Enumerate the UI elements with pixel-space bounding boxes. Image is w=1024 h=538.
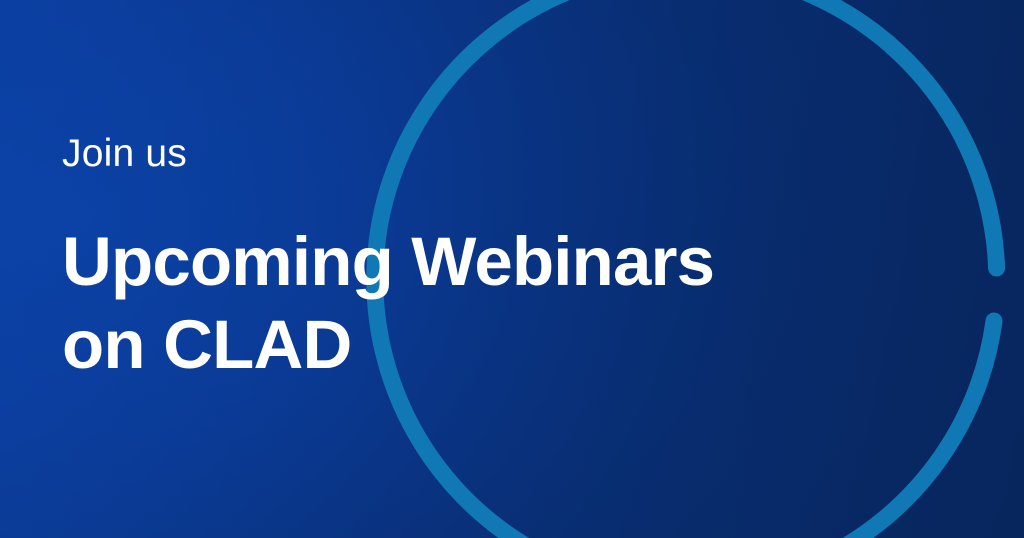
webinar-promo-banner: Join us Upcoming Webinars on CLAD xyxy=(0,0,1024,538)
banner-eyebrow: Join us xyxy=(62,134,187,173)
banner-content: Join us Upcoming Webinars on CLAD xyxy=(62,0,882,538)
banner-headline: Upcoming Webinars on CLAD xyxy=(62,220,714,386)
